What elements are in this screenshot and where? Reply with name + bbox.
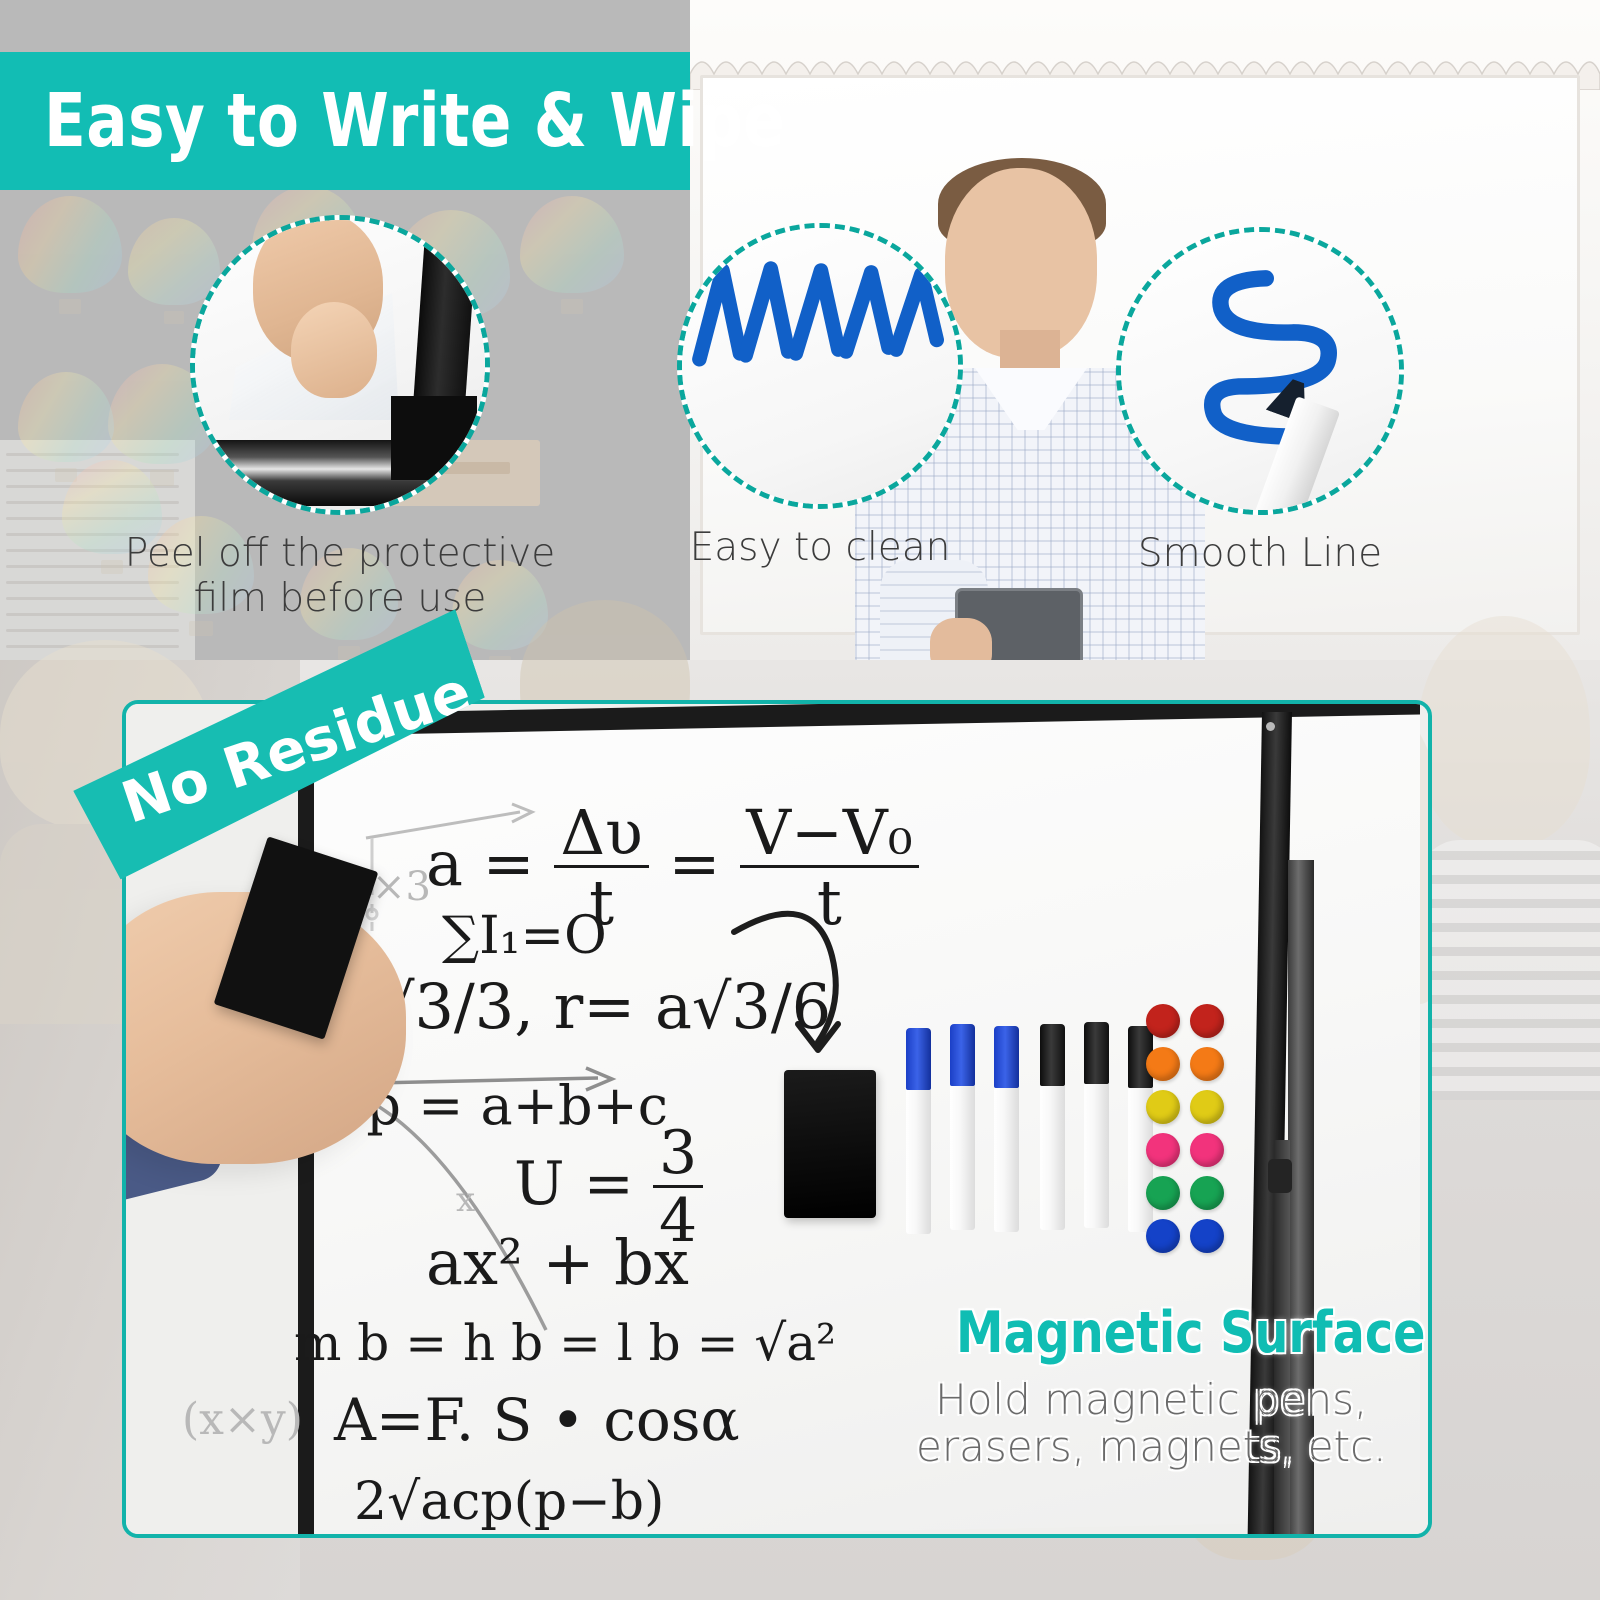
whiteboard-height-knob: [1268, 1159, 1292, 1193]
red-magnet: [1146, 1004, 1180, 1038]
feature-callouts: Peel off the protective film before use …: [0, 215, 1600, 615]
handwriting-axis-x: x: [456, 1180, 475, 1220]
orange-magnet: [1190, 1047, 1224, 1081]
feature-caption: Peel off the protective film before use: [60, 531, 620, 621]
blue-magnet: [1146, 1219, 1180, 1253]
handwriting-medians: m b = h b = l b = √a²: [294, 1314, 836, 1372]
orange-magnet: [1146, 1047, 1180, 1081]
black-marker: [1084, 1022, 1109, 1228]
blue-marker: [950, 1024, 975, 1230]
handwriting-xy: (x×y): [182, 1394, 303, 1445]
handwriting-quadratic: ax² + bx: [426, 1226, 689, 1299]
yellow-magnet: [1146, 1090, 1180, 1124]
whiteboard-photo: ×3 a = Δυt = V−V₀t ∑I₁=O a√3/3, r= a√3/6…: [126, 704, 1428, 1534]
header-banner: Easy to Write & Wipe: [0, 52, 690, 190]
student-silhouette: [1418, 616, 1600, 1100]
zigzag-strokes-icon: [677, 223, 963, 509]
page-title: Easy to Write & Wipe: [44, 78, 785, 164]
frame-screw: [1266, 722, 1275, 731]
feature-easy-clean: Easy to clean: [620, 223, 1020, 570]
feature-caption: Easy to clean: [620, 525, 1020, 570]
feature-peel-film: Peel off the protective film before use: [60, 215, 620, 621]
blue-marker: [906, 1028, 931, 1234]
handwriting-radicals: a√3/3, r= a√3/6: [338, 970, 831, 1043]
marker-squiggle-icon: [1116, 227, 1404, 515]
magnetic-surface-title: Magnetic Surface: [956, 1300, 1425, 1366]
green-magnet: [1190, 1176, 1224, 1210]
black-marker: [1040, 1024, 1065, 1230]
handwriting-sum: ∑I₁=O: [442, 906, 607, 966]
green-magnet: [1146, 1176, 1180, 1210]
pink-magnet: [1146, 1133, 1180, 1167]
yellow-magnet: [1190, 1090, 1224, 1124]
feature-smooth-line: Smooth Line: [1040, 227, 1480, 576]
handwriting-root: 2√acp(p−b): [354, 1472, 664, 1532]
magnetic-eraser: [784, 1070, 876, 1218]
peel-film-icon: [190, 215, 490, 515]
blue-marker: [994, 1026, 1019, 1232]
feature-caption: Smooth Line: [1040, 531, 1480, 576]
pink-magnet: [1190, 1133, 1224, 1167]
handwriting-x3: ×3: [372, 864, 431, 910]
magnetic-surface-subtitle: Hold magnetic pens, erasers, magnets, et…: [916, 1376, 1387, 1470]
red-magnet: [1190, 1004, 1224, 1038]
magnetic-surface-panel: ×3 a = Δυt = V−V₀t ∑I₁=O a√3/3, r= a√3/6…: [122, 700, 1432, 1538]
handwriting-work: A=F. S • cosα: [334, 1386, 740, 1454]
blue-magnet: [1190, 1219, 1224, 1253]
